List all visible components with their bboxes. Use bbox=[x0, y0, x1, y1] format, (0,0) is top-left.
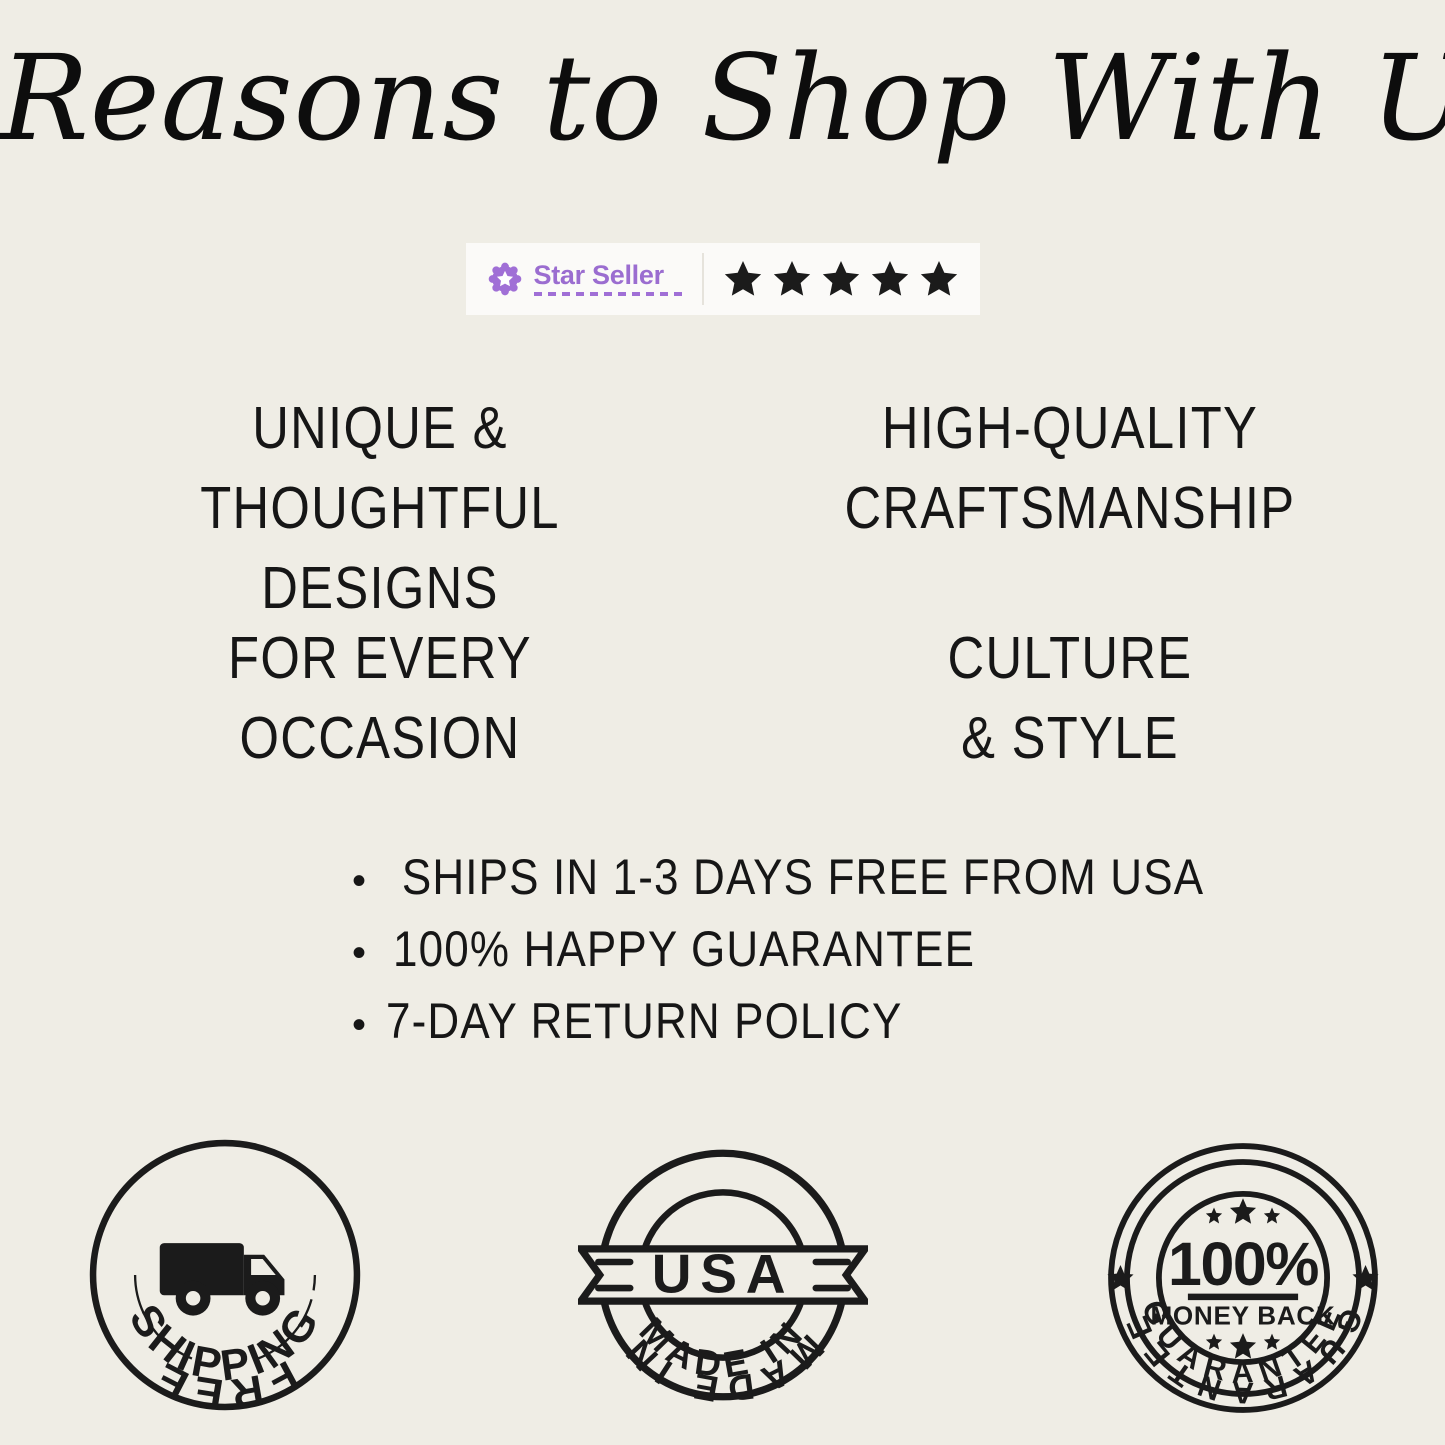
star-icon bbox=[769, 257, 815, 301]
feature-item-culture-style: CULTURE & STYLE bbox=[778, 618, 1363, 778]
made-in-usa-seal: MADE IN MADE IN USA bbox=[578, 1130, 868, 1420]
rating-stars bbox=[704, 243, 980, 315]
money-back-guarantee-seal: GUARANTEE GUARANTEE bbox=[1098, 1133, 1388, 1423]
list-item-label: SHIPS IN 1-3 DAYS FREE FROM USA bbox=[386, 848, 1204, 906]
star-icon bbox=[867, 257, 913, 301]
feature-item-every-occasion: FOR EVERY OCCASION bbox=[88, 618, 673, 778]
seal-center-caption: MONEY BACK bbox=[1150, 1300, 1335, 1330]
star-seller-dotted-underline bbox=[534, 292, 686, 296]
bullet-icon: • bbox=[352, 1005, 386, 1045]
list-item: • SHIPS IN 1-3 DAYS FREE FROM USA bbox=[352, 848, 1172, 906]
star-seller-badge-container: Star Seller bbox=[0, 243, 1445, 315]
promo-graphic: Reasons to Shop With Us bbox=[0, 0, 1445, 1445]
star-seller-label: Star Seller bbox=[534, 262, 664, 289]
bullet-icon: • bbox=[352, 861, 386, 901]
page-title: Reasons to Shop With Us bbox=[0, 34, 1445, 164]
star-seller-rosette-icon bbox=[488, 262, 522, 296]
trust-seal-row: FREE SHIPPING bbox=[0, 1125, 1445, 1425]
bullet-icon: • bbox=[352, 933, 386, 973]
star-icon bbox=[720, 257, 766, 301]
seal-center-percent: 100% bbox=[1168, 1230, 1318, 1298]
star-cluster-top bbox=[1206, 1198, 1280, 1224]
usa-ribbon: USA bbox=[581, 1242, 865, 1304]
feature-item-unique-designs: UNIQUE & THOUGHTFUL DESIGNS bbox=[88, 388, 673, 629]
star-seller-label-group: Star Seller bbox=[466, 243, 702, 315]
star-icon bbox=[818, 257, 864, 301]
feature-item-high-quality: HIGH-QUALITY CRAFTSMANSHIP bbox=[778, 388, 1363, 548]
ribbon-label: USA bbox=[652, 1242, 794, 1304]
svg-text:SHIPPING: SHIPPING bbox=[120, 1296, 331, 1391]
free-shipping-seal: FREE SHIPPING bbox=[80, 1130, 370, 1420]
list-item: • 7-DAY RETURN POLICY bbox=[352, 992, 1172, 1050]
star-seller-text-column: Star Seller bbox=[534, 262, 686, 296]
feature-grid: UNIQUE & THOUGHTFUL DESIGNS HIGH-QUALITY… bbox=[0, 380, 1445, 800]
star-seller-badge: Star Seller bbox=[466, 243, 980, 315]
delivery-truck-icon bbox=[160, 1243, 285, 1316]
list-item: • 100% HAPPY GUARANTEE bbox=[352, 920, 1172, 978]
list-item-label: 100% HAPPY GUARANTEE bbox=[386, 920, 975, 978]
star-icon bbox=[916, 257, 962, 301]
benefits-list: • SHIPS IN 1-3 DAYS FREE FROM USA • 100%… bbox=[352, 848, 1172, 1064]
seal-bottom-label: SHIPPING bbox=[120, 1296, 331, 1391]
list-item-label: 7-DAY RETURN POLICY bbox=[386, 992, 902, 1050]
